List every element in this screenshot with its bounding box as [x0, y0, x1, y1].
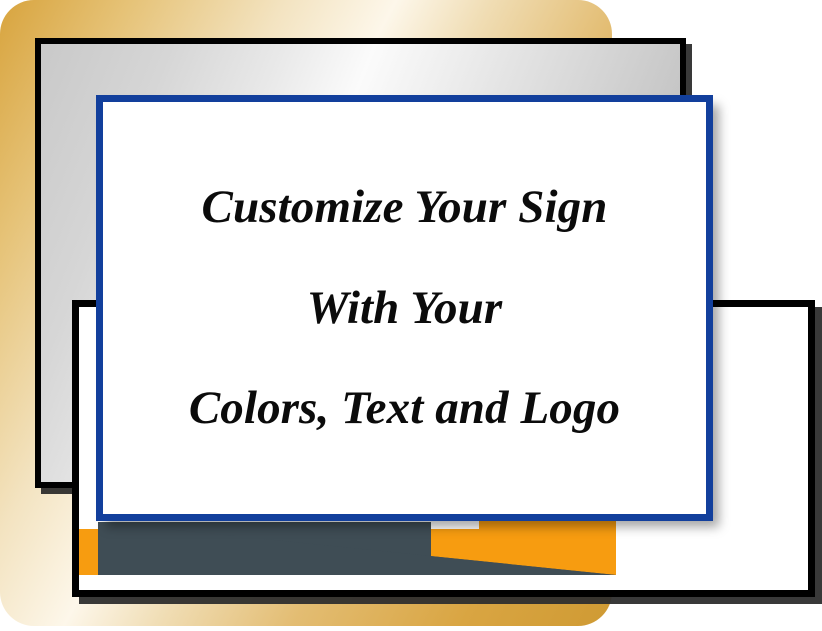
sign-preview-composition: Customize Your Sign With Your Colors, Te…	[0, 0, 822, 631]
customizable-sign-card[interactable]: Customize Your Sign With Your Colors, Te…	[96, 95, 713, 521]
sign-text-line-1: Customize Your Sign	[106, 183, 703, 231]
sign-text-line-2: With Your	[106, 284, 703, 332]
sign-text-line-3: Colors, Text and Logo	[106, 384, 703, 432]
sign-face: Customize Your Sign With Your Colors, Te…	[106, 105, 703, 511]
